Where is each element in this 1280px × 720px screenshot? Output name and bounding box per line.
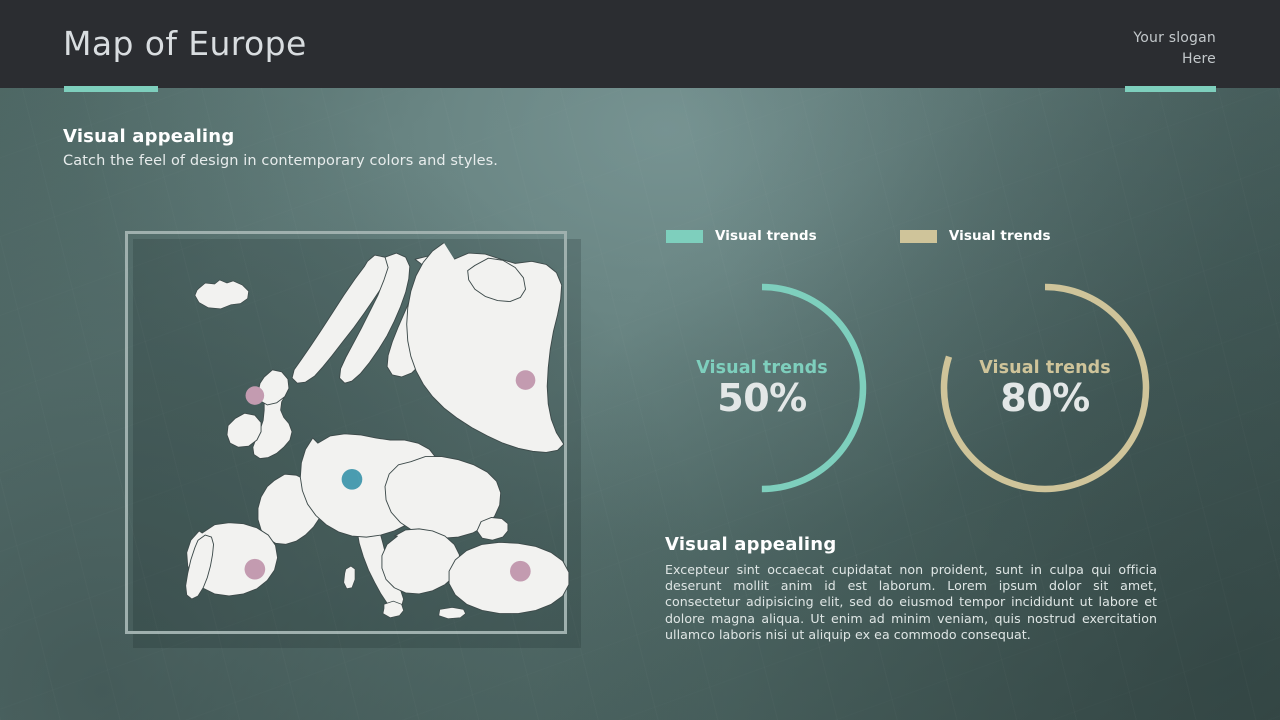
island-sicily <box>383 601 404 618</box>
island-crete <box>439 607 466 618</box>
slide-header: Map of Europe Your slogan Here <box>0 0 1280 88</box>
legend-swatch-icon-1 <box>666 230 703 243</box>
europe-map-svg <box>134 240 572 639</box>
copy-body: Excepteur sint occaecat cupidatat non pr… <box>665 562 1157 643</box>
legend-label-1: Visual trends <box>715 228 817 244</box>
map-of-europe[interactable] <box>134 240 572 639</box>
slogan-line-1: Your slogan <box>1133 28 1216 49</box>
island-sardinia <box>344 566 355 589</box>
country-turkey <box>449 542 569 613</box>
legend-swatch-icon-2 <box>900 230 937 243</box>
slide-root: Map of Europe Your slogan Here Visual ap… <box>0 0 1280 720</box>
section-heading: Visual appealing Catch the feel of desig… <box>63 126 498 169</box>
donut-chart-1[interactable]: Visual trends 50% <box>652 278 872 498</box>
marker-germany[interactable] <box>342 469 363 490</box>
marker-scotland[interactable] <box>246 386 265 405</box>
donut-chart-2[interactable]: Visual trends 80% <box>935 278 1155 498</box>
region-balkans <box>382 529 459 594</box>
chart-legend: Visual trends Visual trends <box>666 228 1051 244</box>
donut-chart-2-label: Visual trends <box>979 358 1111 378</box>
donut-chart-2-text: Visual trends 80% <box>935 278 1155 498</box>
donut-chart-1-value: 50% <box>717 379 806 419</box>
accent-bar-left <box>64 86 158 92</box>
legend-item-1[interactable]: Visual trends <box>666 228 817 244</box>
legend-item-2[interactable]: Visual trends <box>900 228 1051 244</box>
marker-turkey[interactable] <box>510 561 531 582</box>
map-panel[interactable] <box>125 231 581 648</box>
accent-bar-right <box>1125 86 1216 92</box>
donut-chart-2-value: 80% <box>1000 379 1089 419</box>
slogan-line-2: Here <box>1133 49 1216 70</box>
donut-chart-1-label: Visual trends <box>696 358 828 378</box>
copy-title: Visual appealing <box>665 534 1157 555</box>
section-title: Visual appealing <box>63 126 498 147</box>
legend-label-2: Visual trends <box>949 228 1051 244</box>
marker-spain[interactable] <box>245 559 266 580</box>
marker-russia[interactable] <box>516 370 536 390</box>
map-landmasses <box>186 243 569 619</box>
copy-block: Visual appealing Excepteur sint occaecat… <box>665 534 1157 643</box>
section-subtitle: Catch the feel of design in contemporary… <box>63 153 498 169</box>
country-iceland <box>195 280 249 309</box>
slogan-text: Your slogan Here <box>1133 28 1216 70</box>
donut-chart-1-text: Visual trends 50% <box>652 278 872 498</box>
page-title: Map of Europe <box>63 24 307 63</box>
